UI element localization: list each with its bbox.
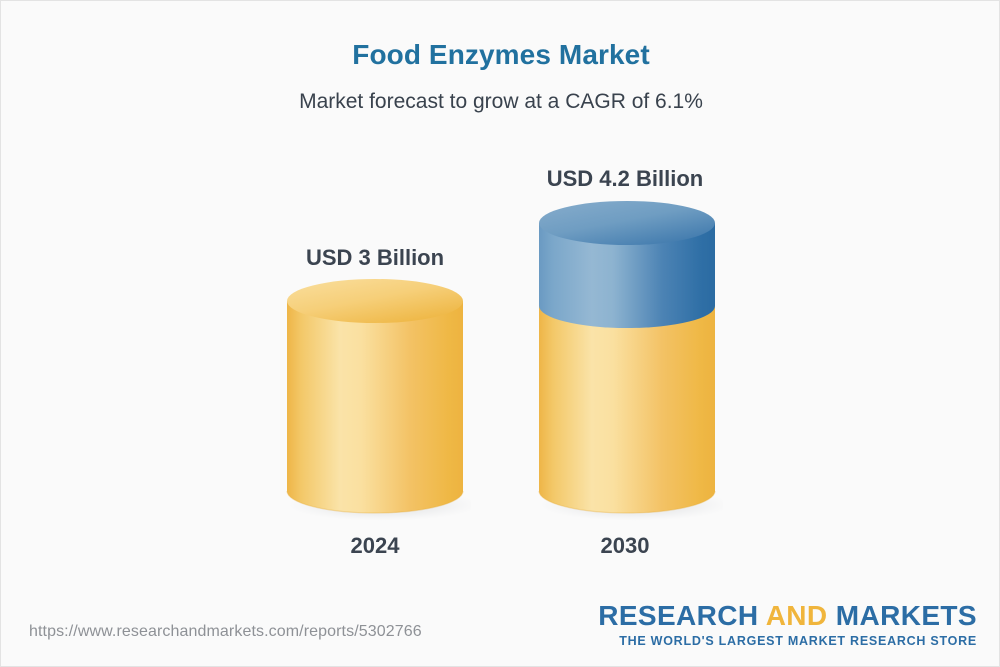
cylinder-top-cap-2030 xyxy=(539,201,715,245)
value-label-2024: USD 3 Billion xyxy=(245,245,505,271)
category-label-2030: 2030 xyxy=(495,533,755,559)
cylinder-base-segment-2030 xyxy=(539,306,715,513)
category-label-2024: 2024 xyxy=(245,533,505,559)
value-label-2030: USD 4.2 Billion xyxy=(495,166,755,192)
cylinder-body-2024 xyxy=(287,301,463,513)
brand-logo[interactable]: RESEARCH AND MARKETS THE WORLD'S LARGEST… xyxy=(598,602,977,648)
bar-cylinder-2030 xyxy=(533,195,723,521)
logo-word-markets: MARKETS xyxy=(836,600,977,631)
logo-word-and: AND xyxy=(766,600,828,631)
bar-cylinder-2024 xyxy=(281,273,471,521)
logo-tagline: THE WORLD'S LARGEST MARKET RESEARCH STOR… xyxy=(598,635,977,648)
report-url[interactable]: https://www.researchandmarkets.com/repor… xyxy=(29,623,422,641)
cylinder-top-cap-2024 xyxy=(287,279,463,323)
logo-word-research: RESEARCH xyxy=(598,600,758,631)
logo-wordmark: RESEARCH AND MARKETS xyxy=(598,602,977,630)
chart-canvas: Food Enzymes Market Market forecast to g… xyxy=(0,0,1000,667)
plot-area: USD 3 Billion xyxy=(1,1,1000,601)
